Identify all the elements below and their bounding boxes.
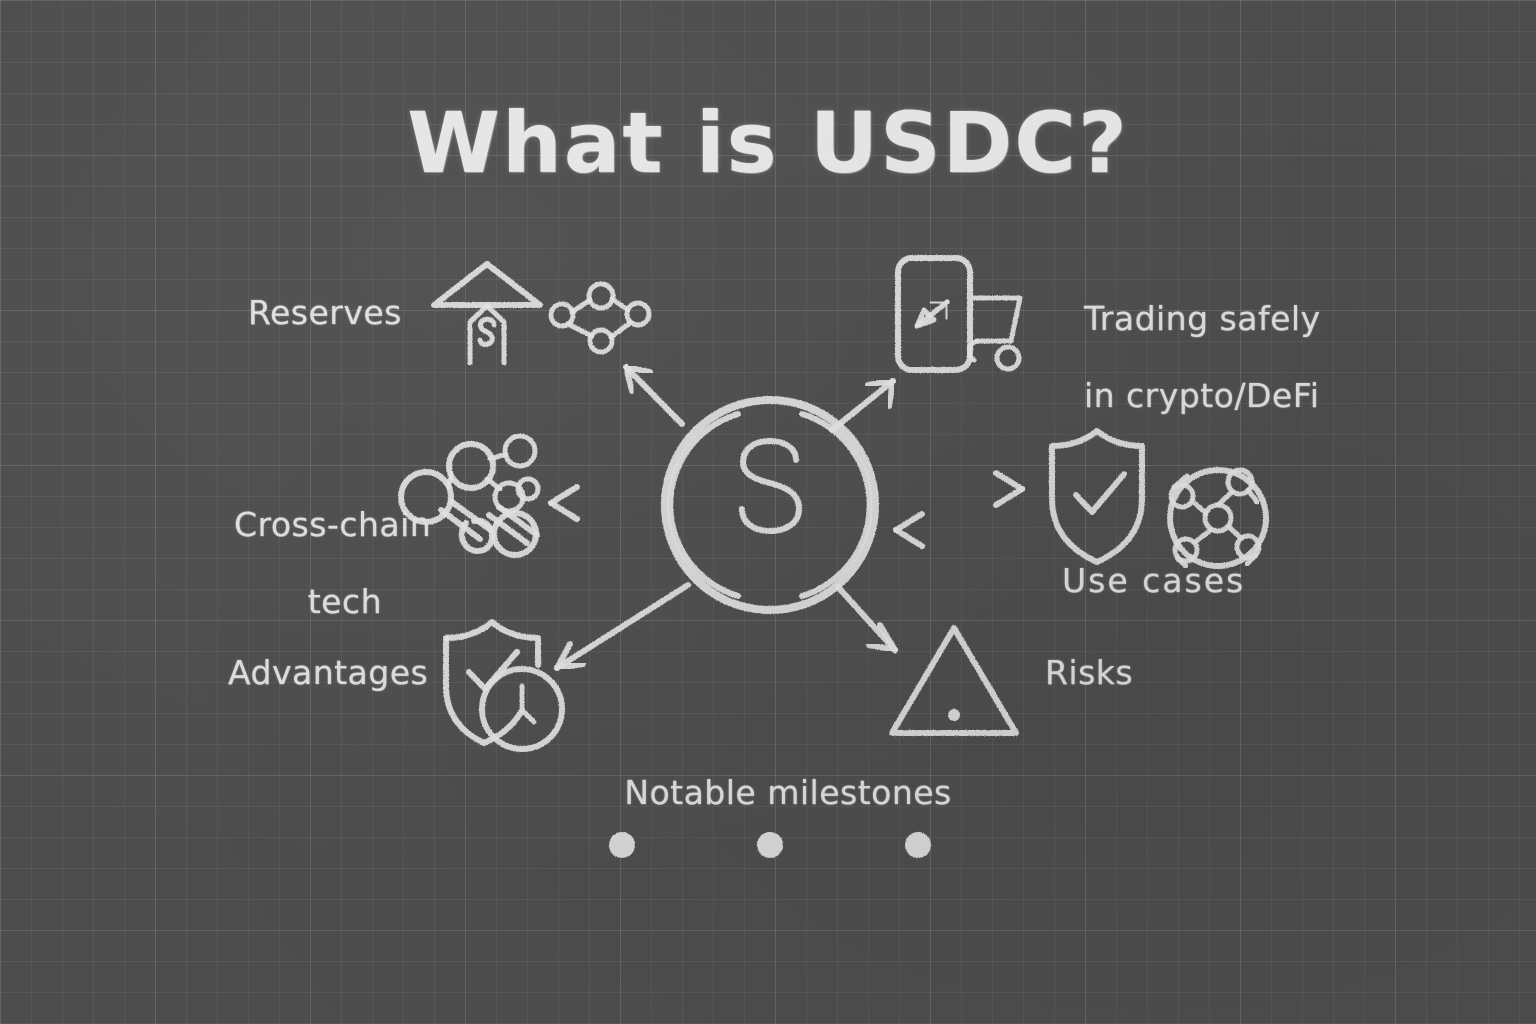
warning-triangle-icon	[892, 628, 1016, 733]
timeline-icon	[609, 832, 931, 858]
arrow-to-use-cases	[893, 473, 1022, 505]
label-cross-chain-tech-line2: tech	[308, 582, 382, 621]
page-title: What is USDC?	[0, 96, 1536, 190]
label-use-cases: Use cases	[1062, 563, 1245, 600]
globe-network-icon	[1170, 470, 1266, 566]
arrow-to-cross-chain	[551, 487, 645, 519]
mobile-phone-icon	[898, 258, 970, 370]
label-trading-safely-line2: in crypto/DeFi	[1084, 376, 1319, 415]
shield-clock-icon	[446, 622, 538, 757]
label-trading-safely-line1: Trading safely	[1084, 299, 1321, 338]
label-notable-milestones: Notable milestones	[0, 775, 1536, 812]
dash-marks-icon	[1143, 470, 1168, 513]
usdc-coin-icon	[665, 400, 875, 610]
network-nodes-icon	[551, 284, 649, 352]
label-reserves: Reserves	[248, 295, 402, 332]
shopping-cart-icon	[969, 298, 1020, 369]
arrow-from-use-cases	[896, 514, 1035, 546]
arrow-to-trading-safely	[832, 381, 893, 430]
chalkboard-infographic: What is USDC? Reserves Trading safely in…	[0, 0, 1536, 1024]
label-advantages: Advantages	[228, 655, 428, 692]
label-cross-chain-tech-line1: Cross-chain	[234, 505, 431, 544]
bank-icon	[420, 264, 554, 375]
arrow-to-advantages	[557, 585, 688, 668]
label-trading-safely: Trading safely in crypto/DeFi	[1040, 262, 1321, 453]
label-risks: Risks	[1045, 655, 1133, 692]
arrow-to-risks	[838, 587, 895, 650]
chain-link-icon	[441, 502, 537, 551]
arrow-to-reserves	[626, 367, 682, 424]
label-cross-chain-tech: Cross-chain tech	[190, 468, 382, 659]
clock-icon	[482, 669, 562, 749]
